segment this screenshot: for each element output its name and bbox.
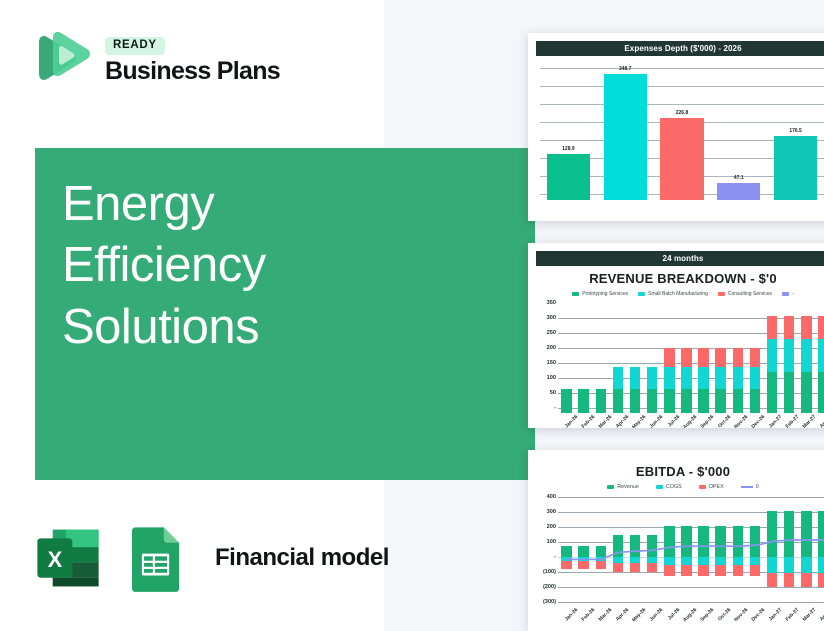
ebitda-bar-item[interactable] <box>798 494 815 606</box>
ebitda-bar-item[interactable] <box>678 494 695 606</box>
legend-label: OPEX <box>709 484 724 490</box>
legend-label: 0 <box>756 484 759 490</box>
ebitda-bar-item[interactable] <box>695 494 712 606</box>
x-tick: Jun-26 <box>648 607 664 623</box>
revenue-bar-item[interactable] <box>592 301 609 413</box>
x-tick: Sep-26 <box>699 607 715 623</box>
revenue-bar-item[interactable] <box>729 301 746 413</box>
ebitda-bar-item[interactable] <box>558 494 575 606</box>
brand-logo: READY Business Plans <box>33 30 280 92</box>
revenue-x-axis: Jan-26 Feb-26 Mar-26 Apr-26 May-26 Jun-2… <box>558 413 824 428</box>
revenue-chart-title: REVENUE BREAKDOWN - $'0 <box>528 271 824 286</box>
bar-value-label: 348.7 <box>619 66 632 72</box>
brand-name: Business Plans <box>105 58 280 84</box>
x-tick: Oct-26 <box>716 607 732 623</box>
legend-label: Small Batch Manufacturing <box>648 291 708 297</box>
revenue-bar-item[interactable] <box>609 301 626 413</box>
revenue-bar-item[interactable] <box>764 301 781 413</box>
poster-canvas: READY Business Plans Energy Efficiency S… <box>0 0 824 631</box>
bar-value-label: 176.5 <box>789 128 802 134</box>
play-triangle-logo-icon <box>33 30 91 92</box>
x-tick: Feb-27 <box>784 607 800 623</box>
legend-label: - <box>792 291 794 297</box>
legend-label: Prototyping Services <box>582 291 628 297</box>
y-tick: - <box>554 554 556 560</box>
ebitda-bar-item[interactable] <box>746 494 763 606</box>
ebitda-bar-item[interactable] <box>609 494 626 606</box>
x-tick: Mar-26 <box>597 607 613 623</box>
revenue-bar-item[interactable] <box>695 301 712 413</box>
x-tick: Jul-26 <box>665 414 681 428</box>
x-tick: Mar-27 <box>801 414 817 428</box>
legend-item[interactable]: Consulting Services <box>718 291 772 297</box>
x-tick: Aug-26 <box>682 607 698 623</box>
x-tick: Feb-26 <box>580 414 596 428</box>
y-tick: 200 <box>547 524 556 530</box>
y-tick: 100 <box>547 539 556 545</box>
revenue-bar-item[interactable] <box>712 301 729 413</box>
bar-value-label: 128.9 <box>562 146 575 152</box>
revenue-bar-item[interactable] <box>798 301 815 413</box>
ebitda-bar-item[interactable] <box>575 494 592 606</box>
revenue-bar-item[interactable] <box>746 301 763 413</box>
revenue-bar-item[interactable] <box>661 301 678 413</box>
revenue-bar-item[interactable] <box>781 301 798 413</box>
ebitda-bar-group <box>558 494 824 606</box>
expenses-bar-item[interactable]: 128.9 <box>540 60 597 200</box>
revenue-bar-group <box>558 301 824 413</box>
x-tick: Apr-27 <box>818 607 824 623</box>
revenue-plot-area: 350 300 250 200 150 100 50 - <box>532 301 824 413</box>
x-tick: Dec-26 <box>750 607 766 623</box>
revenue-bar-item[interactable] <box>558 301 575 413</box>
x-tick: Nov-26 <box>733 414 749 428</box>
y-tick: (100) <box>543 569 556 575</box>
y-tick: 200 <box>547 345 556 351</box>
ready-badge: READY <box>105 37 165 55</box>
y-tick: 100 <box>547 375 556 381</box>
x-tick: Jan-27 <box>767 414 783 428</box>
revenue-bar-item[interactable] <box>575 301 592 413</box>
ebitda-bar-item[interactable] <box>764 494 781 606</box>
chart-card-expenses[interactable]: Expenses Depth ($'000) - 2026 128.9 348.… <box>528 33 824 221</box>
ebitda-bar-item[interactable] <box>644 494 661 606</box>
revenue-bar-item[interactable] <box>627 301 644 413</box>
legend-item[interactable]: 0 <box>741 484 759 490</box>
legend-label: COGS <box>666 484 682 490</box>
x-tick: Jan-26 <box>563 607 579 623</box>
legend-item[interactable]: Prototyping Services <box>572 291 628 297</box>
expenses-bar-item[interactable]: 226.8 <box>654 60 711 200</box>
page-title: Energy Efficiency Solutions <box>62 174 266 358</box>
revenue-bar-item[interactable] <box>815 301 824 413</box>
ebitda-bar-item[interactable] <box>712 494 729 606</box>
revenue-period-banner: 24 months <box>536 251 824 266</box>
y-tick: 50 <box>550 390 556 396</box>
x-tick: May-26 <box>631 414 647 428</box>
y-tick: 300 <box>547 509 556 515</box>
svg-text:X: X <box>48 547 63 572</box>
x-tick: Sep-26 <box>699 414 715 428</box>
bar-value-label: 47.1 <box>734 175 744 181</box>
microsoft-excel-icon: X <box>33 522 103 594</box>
x-tick: Feb-27 <box>784 414 800 428</box>
x-tick: Apr-26 <box>614 414 630 428</box>
chart-card-revenue[interactable]: 24 months REVENUE BREAKDOWN - $'0 Protot… <box>528 243 824 428</box>
y-tick: 150 <box>547 360 556 366</box>
y-tick: - <box>554 405 556 411</box>
revenue-bar-item[interactable] <box>678 301 695 413</box>
expenses-plot-area: 128.9 348.7 226.8 47.1 176.5 <box>534 60 824 200</box>
expenses-bar-item[interactable]: 47.1 <box>710 60 767 200</box>
x-tick: Jan-27 <box>767 607 783 623</box>
ebitda-y-axis: 400 300 200 100 - (100) (200) (300) <box>532 494 558 606</box>
revenue-y-axis: 350 300 250 200 150 100 50 - <box>532 301 558 413</box>
x-tick: Apr-26 <box>614 607 630 623</box>
revenue-legend: Prototyping Services Small Batch Manufac… <box>528 291 824 297</box>
ebitda-x-axis: Jan-26 Feb-26 Mar-26 Apr-26 May-26 Jun-2… <box>558 606 824 631</box>
chart-card-ebitda[interactable]: EBITDA - $'000 Revenue COGS OPEX 0 400 <box>528 450 824 631</box>
x-tick: Jan-26 <box>563 414 579 428</box>
x-tick: May-26 <box>631 607 647 623</box>
expenses-bar-item[interactable]: 348.7 <box>597 60 654 200</box>
legend-label: Revenue <box>617 484 639 490</box>
legend-label: Consulting Services <box>728 291 772 297</box>
y-tick: 250 <box>547 330 556 336</box>
ebitda-bar-item[interactable] <box>592 494 609 606</box>
x-tick: Mar-27 <box>801 607 817 623</box>
legend-item[interactable]: - <box>782 291 794 297</box>
x-tick: Apr-27 <box>818 414 824 428</box>
y-tick: 300 <box>547 315 556 321</box>
x-tick: Jul-26 <box>665 607 681 623</box>
x-tick: Oct-26 <box>716 414 732 428</box>
legend-item[interactable]: Revenue <box>607 484 639 490</box>
ebitda-legend: Revenue COGS OPEX 0 <box>528 484 824 490</box>
x-tick: Nov-26 <box>733 607 749 623</box>
y-tick: 350 <box>547 300 556 306</box>
ebitda-bar-item[interactable] <box>661 494 678 606</box>
google-sheets-icon <box>120 522 190 594</box>
bar-value-label: 226.8 <box>676 110 689 116</box>
financial-model-row: X Financial model <box>33 522 389 594</box>
hero-banner: Energy Efficiency Solutions <box>35 148 535 480</box>
ebitda-bar-item[interactable] <box>781 494 798 606</box>
expenses-chart-title: Expenses Depth ($'000) - 2026 <box>536 41 824 56</box>
ebitda-bar-item[interactable] <box>729 494 746 606</box>
y-tick: 400 <box>547 494 556 500</box>
y-tick: (200) <box>543 584 556 590</box>
ebitda-bar-item[interactable] <box>627 494 644 606</box>
financial-model-label: Financial model <box>215 544 389 572</box>
y-tick: (300) <box>543 599 556 605</box>
x-tick: Aug-26 <box>682 414 698 428</box>
ebitda-plot-area: 400 300 200 100 - (100) (200) (300) <box>532 494 824 606</box>
x-tick: Feb-26 <box>580 607 596 623</box>
revenue-bar-item[interactable] <box>644 301 661 413</box>
x-tick: Dec-26 <box>750 414 766 428</box>
expenses-bar-item[interactable]: 176.5 <box>767 60 824 200</box>
legend-item[interactable]: COGS <box>656 484 682 490</box>
x-tick: Jun-26 <box>648 414 664 428</box>
legend-item[interactable]: Small Batch Manufacturing <box>638 291 708 297</box>
x-tick: Mar-26 <box>597 414 613 428</box>
ebitda-bar-item[interactable] <box>815 494 824 606</box>
legend-item[interactable]: OPEX <box>699 484 724 490</box>
ebitda-chart-title: EBITDA - $'000 <box>528 464 824 479</box>
expenses-bar-group: 128.9 348.7 226.8 47.1 176.5 <box>540 60 824 200</box>
